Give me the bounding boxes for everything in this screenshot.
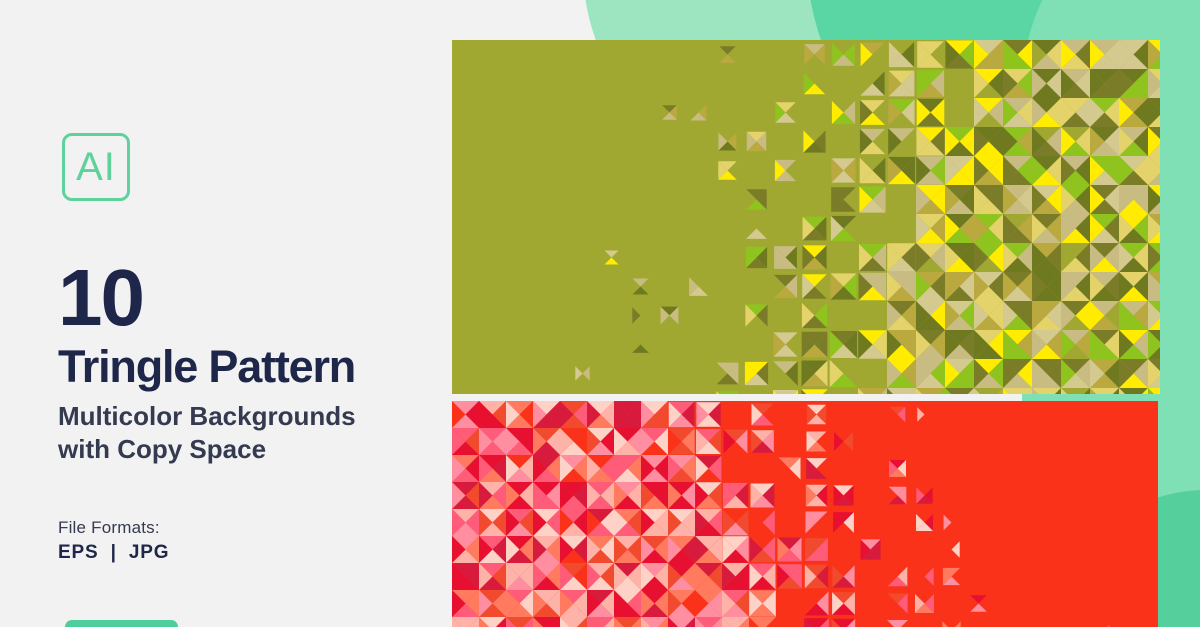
ai-badge-label: AI (76, 147, 116, 187)
cta-button[interactable] (65, 620, 178, 627)
page-title: Tringle Pattern (58, 344, 355, 389)
olive-triangle-preview[interactable] (452, 40, 1160, 394)
file-formats-value: EPS | JPG (58, 542, 169, 564)
item-count: 10 (58, 258, 143, 338)
ai-format-badge: AI (62, 133, 130, 201)
red-triangle-pattern (452, 401, 1158, 627)
red-triangle-preview[interactable] (452, 401, 1158, 627)
info-column: AI 10 Tringle Pattern Multicolor Backgro… (0, 0, 452, 627)
page-subtitle: Multicolor Backgroundswith Copy Space (58, 400, 438, 465)
file-formats-label: File Formats: (58, 518, 160, 538)
olive-triangle-pattern (452, 40, 1160, 394)
promo-banner: AI 10 Tringle Pattern Multicolor Backgro… (0, 0, 1200, 627)
